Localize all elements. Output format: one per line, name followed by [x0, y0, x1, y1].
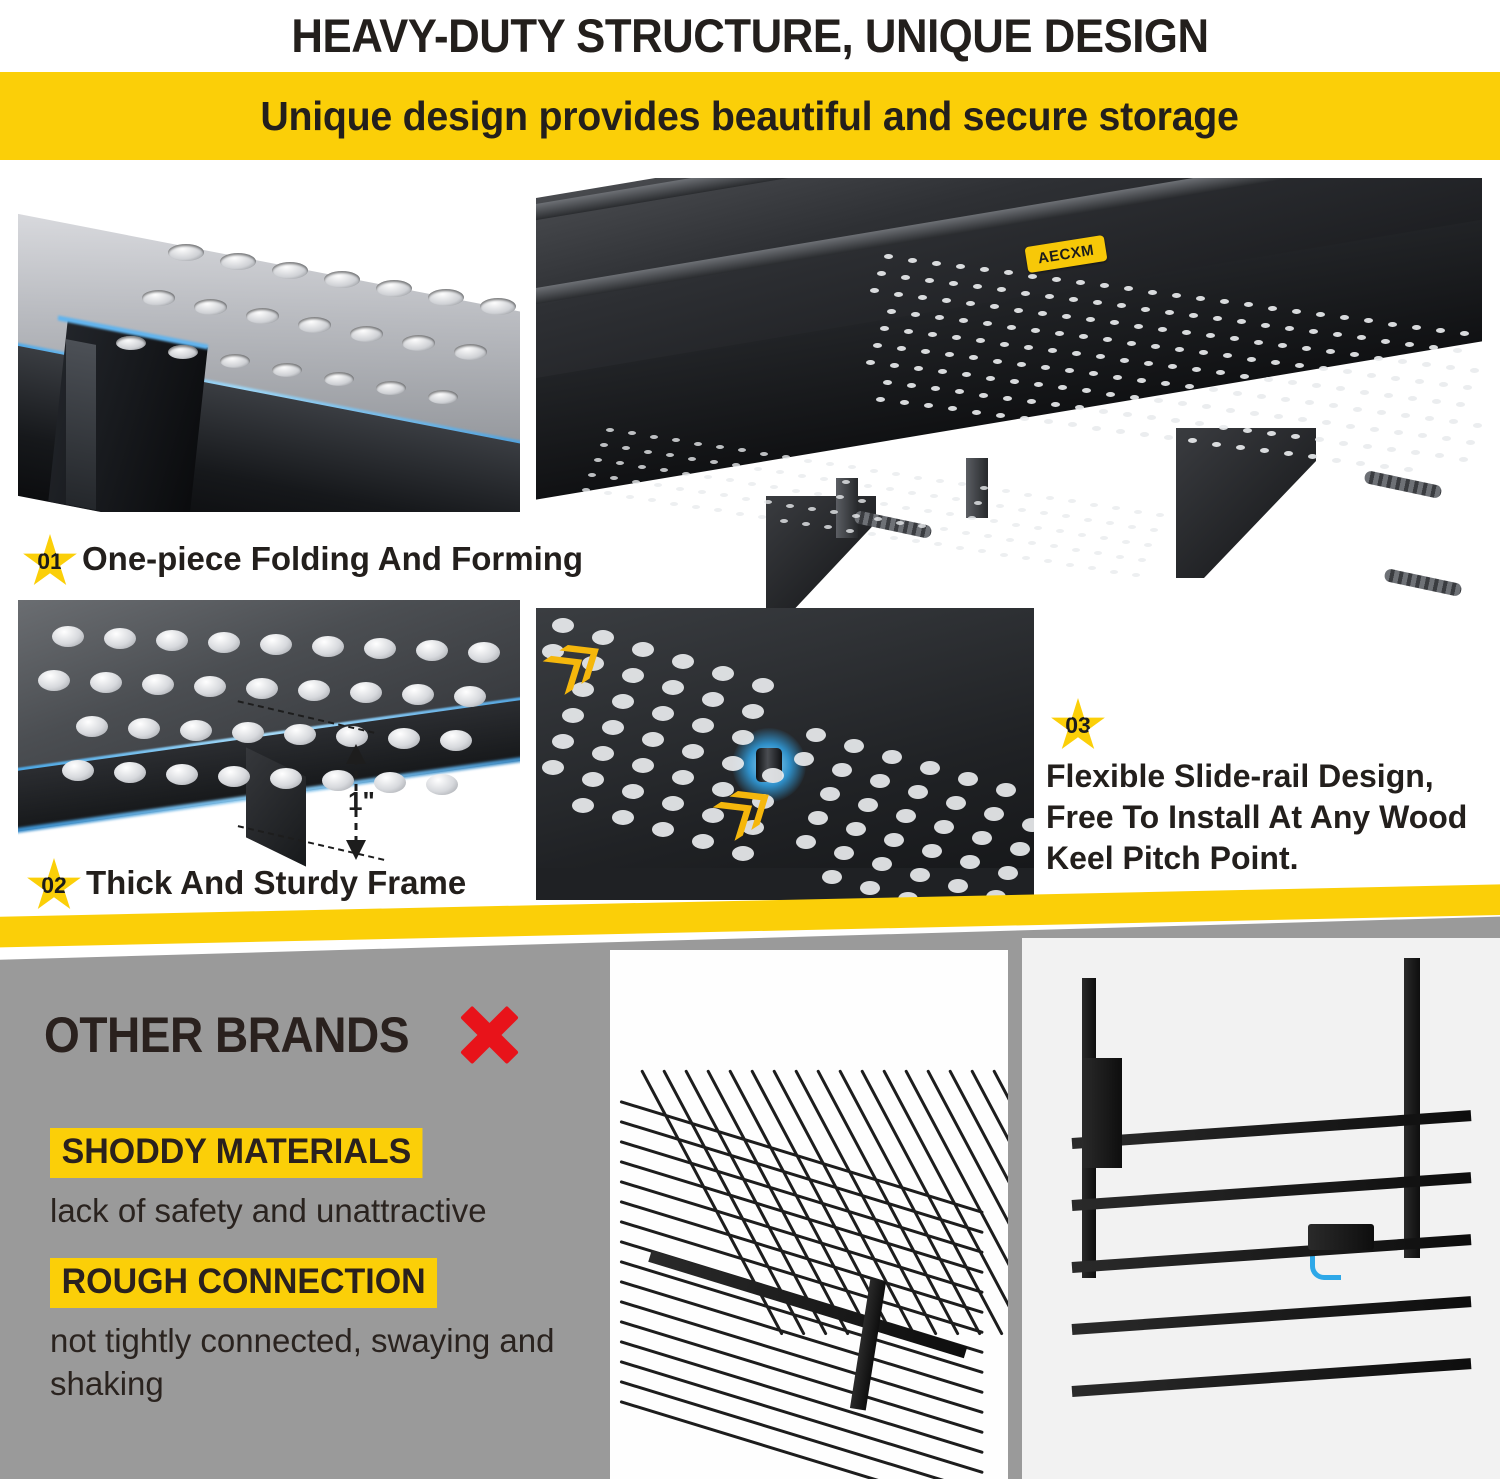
photo-detail	[732, 463, 740, 467]
photo-detail	[704, 475, 712, 479]
photo-detail	[930, 494, 938, 498]
photo-detail	[1092, 426, 1101, 431]
photo-detail	[1322, 420, 1331, 425]
photo-detail	[834, 846, 854, 860]
photo-detail	[1429, 345, 1438, 350]
photo-detail	[1106, 521, 1114, 525]
photo-detail	[1456, 402, 1465, 407]
comparison-heading: OTHER BRANDS	[44, 1004, 521, 1066]
photo-detail	[440, 730, 472, 751]
photo-detail	[692, 834, 714, 849]
photo-detail	[1120, 358, 1129, 363]
photo-detail	[642, 732, 664, 747]
photo-detail	[676, 487, 684, 491]
photo-detail	[324, 271, 360, 288]
photo-detail	[932, 261, 941, 266]
photo-detail	[1127, 341, 1136, 346]
photo-detail	[1076, 280, 1085, 285]
photo-detail	[1100, 536, 1108, 540]
photo-detail	[1156, 513, 1164, 517]
photo-detail	[914, 366, 923, 371]
photo-detail	[1332, 458, 1341, 463]
photo-detail	[1010, 842, 1030, 856]
photo-detail	[776, 470, 784, 474]
photo-detail	[866, 360, 875, 365]
photo-detail	[880, 502, 888, 506]
photo-detail	[901, 275, 910, 280]
photo-detail	[632, 758, 654, 773]
photo-detail	[376, 280, 412, 297]
photo-detail	[960, 855, 980, 869]
photo-detail	[1003, 396, 1012, 401]
photo-detail	[978, 549, 986, 553]
photo-detail	[748, 482, 756, 486]
comparison-tag-2: ROUGH CONNECTION	[50, 1258, 437, 1308]
photo-detail	[1172, 293, 1181, 298]
photo-detail	[922, 844, 942, 858]
photo-detail	[1298, 417, 1307, 422]
photo-detail	[984, 534, 992, 538]
photo-detail	[1257, 394, 1266, 399]
photo-detail	[1050, 544, 1058, 548]
photo-detail	[956, 264, 965, 269]
photo-detail	[388, 728, 420, 749]
photo-detail	[1099, 409, 1108, 414]
photo-detail	[868, 532, 876, 536]
photo-detail	[1339, 441, 1348, 446]
photo-detail	[698, 490, 706, 494]
photo-detail	[298, 680, 330, 701]
photo-detail	[852, 514, 860, 518]
photo-detail	[940, 527, 948, 531]
photo-detail	[592, 746, 614, 761]
photo-detail	[1292, 309, 1301, 314]
photo-detail	[1012, 523, 1020, 527]
photo-thick-frame	[18, 600, 520, 900]
photo-detail	[908, 258, 917, 263]
photo-detail	[850, 1280, 886, 1411]
photo-detail	[1453, 348, 1462, 353]
photo-detail	[1075, 405, 1084, 410]
photo-detail	[1182, 330, 1191, 335]
photo-detail	[1137, 378, 1146, 383]
photo-detail	[1068, 499, 1076, 503]
subtitle-text: Unique design provides beautiful and sec…	[261, 93, 1239, 140]
photo-detail	[480, 298, 516, 315]
photo-detail	[1219, 425, 1228, 430]
photo-detail	[638, 465, 646, 469]
brand-plate-label: AECXM	[1037, 241, 1096, 267]
photo-detail	[1110, 570, 1118, 574]
photo-detail	[652, 706, 674, 721]
photo-detail	[896, 809, 916, 823]
photo-detail	[232, 722, 264, 743]
photo-detail	[918, 295, 927, 300]
photo-detail	[594, 458, 602, 462]
feature-label-01: One-piece Folding And Forming	[82, 540, 583, 578]
comparison-detail-1: lack of safety and unattractive	[50, 1190, 610, 1233]
photo-detail	[1442, 436, 1451, 441]
photo-detail	[758, 515, 766, 519]
photo-detail	[920, 761, 940, 775]
photo-detail	[1175, 347, 1184, 352]
photo-detail	[1268, 306, 1277, 311]
photo-detail	[1247, 357, 1256, 362]
photo-detail	[816, 1069, 959, 1335]
photo-detail	[1408, 396, 1417, 401]
photo-detail	[993, 359, 1002, 364]
photo-detail	[1151, 344, 1160, 349]
photo-detail	[1038, 311, 1047, 316]
photo-detail	[942, 298, 951, 303]
photo-detail	[104, 628, 136, 649]
photo-detail	[1422, 362, 1431, 367]
photo-detail	[1411, 450, 1420, 455]
photo-detail	[742, 704, 764, 719]
photo-detail	[376, 381, 406, 395]
photo-detail	[552, 734, 574, 749]
photo-detail	[1148, 290, 1157, 295]
photo-detail	[312, 636, 344, 657]
photo-detail	[884, 833, 904, 847]
photo-detail	[1130, 395, 1139, 400]
photo-detail	[1123, 412, 1132, 417]
photo-detail	[1387, 447, 1396, 452]
photo-detail	[428, 390, 458, 404]
photo-detail	[1045, 294, 1054, 299]
photo-detail	[1391, 376, 1400, 381]
photo-detail	[350, 326, 383, 342]
photo-detail	[924, 509, 932, 513]
photo-detail	[946, 796, 966, 810]
photo-detail	[826, 462, 834, 466]
photo-detail	[780, 519, 788, 523]
photo-detail	[1028, 274, 1037, 279]
photo-detail	[948, 879, 968, 893]
photo-detail	[128, 718, 160, 739]
photo-detail	[996, 783, 1016, 797]
photo-detail	[220, 354, 250, 368]
red-x-icon	[459, 1004, 521, 1066]
photo-detail	[1233, 391, 1242, 396]
photo-detail	[1319, 366, 1328, 371]
photo-detail	[934, 542, 942, 546]
photo-detail	[1116, 429, 1125, 434]
photo-detail	[1353, 407, 1362, 412]
photo-folded-channel	[18, 192, 520, 512]
photo-detail	[846, 529, 854, 533]
photo-detail	[902, 506, 910, 510]
comparison-detail-2: not tightly connected, swaying and shaki…	[50, 1320, 610, 1406]
photo-detail	[1150, 528, 1158, 532]
photo-detail	[654, 483, 662, 487]
photo-detail	[1022, 556, 1030, 560]
photo-detail	[1226, 408, 1235, 413]
photo-detail	[1024, 345, 1033, 350]
photo-detail	[946, 512, 954, 516]
photo-detail	[1196, 296, 1205, 301]
photo-detail	[1161, 381, 1170, 386]
photo-detail	[872, 857, 892, 871]
photo-detail	[844, 739, 864, 753]
photo-detail	[648, 498, 656, 502]
photo-detail	[925, 278, 934, 283]
photo-detail	[1398, 359, 1407, 364]
photo-detail	[168, 244, 204, 261]
photo-detail	[1138, 558, 1146, 562]
photo-detail	[1264, 377, 1273, 382]
photo-detail	[896, 521, 904, 525]
photo-detail	[1236, 445, 1245, 450]
photo-detail	[180, 720, 212, 741]
photo-detail	[1082, 1058, 1122, 1168]
photo-detail	[1106, 392, 1115, 397]
photo-detail	[754, 467, 762, 471]
photo-detail	[984, 807, 1004, 821]
photo-detail	[402, 335, 435, 351]
photo-detail	[1088, 566, 1096, 570]
photo-detail	[1336, 386, 1345, 391]
photo-detail	[742, 497, 750, 501]
photo-detail	[562, 708, 584, 723]
photo-detail	[858, 499, 866, 503]
photo-detail	[632, 480, 640, 484]
photo-detail	[820, 787, 840, 801]
photo-detail	[1040, 511, 1048, 515]
photo-detail	[914, 476, 922, 480]
photo-detail	[1113, 375, 1122, 380]
photo-detail	[1374, 356, 1383, 361]
photo-detail	[1449, 419, 1458, 424]
photo-detail	[116, 336, 146, 350]
photo-detail	[1168, 364, 1177, 369]
photo-detail	[166, 764, 198, 785]
photo-detail	[908, 491, 916, 495]
photo-detail	[752, 678, 774, 693]
photo-detail	[1002, 489, 1010, 493]
photo-detail	[1202, 404, 1211, 409]
photo-detail	[552, 618, 574, 633]
photo-detail	[1044, 419, 1053, 424]
photo-detail	[822, 870, 842, 884]
photo-detail	[912, 539, 920, 543]
photo-detail	[918, 524, 926, 528]
photo-detail	[652, 822, 674, 837]
photo-detail	[952, 497, 960, 501]
photo-detail	[650, 435, 658, 439]
photo-detail	[990, 519, 998, 523]
photo-detail	[894, 292, 903, 297]
photo-detail	[218, 766, 250, 787]
photo-detail	[1308, 1224, 1374, 1250]
photo-detail	[1432, 399, 1441, 404]
photo-bracket-rack	[1022, 938, 1500, 1479]
photo-detail	[670, 502, 678, 506]
photo-detail	[1405, 342, 1414, 347]
photo-detail	[972, 831, 992, 845]
photo-detail	[1312, 383, 1321, 388]
photo-detail	[732, 730, 754, 745]
photo-detail	[1254, 340, 1263, 345]
dimension-label: 1"	[348, 786, 375, 817]
photo-detail	[52, 626, 84, 647]
photo-detail	[794, 752, 814, 766]
photo-detail	[968, 516, 976, 520]
photo-detail	[1084, 518, 1092, 522]
photo-detail	[672, 770, 694, 785]
photo-detail	[1164, 435, 1173, 440]
photo-detail	[1144, 543, 1152, 547]
photo-detail	[1165, 310, 1174, 315]
photo-detail	[1470, 368, 1479, 373]
photo-detail	[114, 762, 146, 783]
photo-detail	[1346, 424, 1355, 429]
photo-detail	[1309, 329, 1318, 334]
photo-detail	[246, 308, 279, 324]
photo-detail	[1285, 326, 1294, 331]
photo-detail	[454, 686, 486, 707]
photo-detail	[846, 822, 866, 836]
photo-detail	[622, 668, 644, 683]
photo-detail	[1024, 493, 1032, 497]
photo-detail	[1072, 1358, 1472, 1397]
photo-detail	[904, 329, 913, 334]
photo-detail	[1473, 423, 1482, 428]
photo-detail	[612, 810, 634, 825]
photo-detail	[220, 253, 256, 270]
photo-detail	[798, 474, 806, 478]
photo-detail	[416, 640, 448, 661]
photo-detail	[996, 504, 1004, 508]
photo-detail	[1278, 343, 1287, 348]
photo-detail	[1381, 339, 1390, 344]
photo-detail	[1436, 328, 1445, 333]
photo-detail	[272, 363, 302, 377]
photo-detail	[1132, 573, 1140, 577]
comparison-tag-1: SHODDY MATERIALS	[50, 1128, 423, 1178]
photo-detail	[1154, 398, 1163, 403]
photo-detail	[1435, 453, 1444, 458]
photo-detail	[688, 457, 696, 461]
photo-detail	[720, 493, 728, 497]
photo-detail	[820, 477, 828, 481]
photo-detail	[1021, 291, 1030, 296]
photo-detail	[897, 346, 906, 351]
photo-detail	[1302, 346, 1311, 351]
photo-detail	[682, 472, 690, 476]
comparison-title: OTHER BRANDS	[44, 1006, 409, 1064]
photo-detail	[542, 760, 564, 775]
photo-detail	[1056, 529, 1064, 533]
photo-detail	[1078, 533, 1086, 537]
photo-detail	[876, 397, 885, 402]
photo-detail	[1017, 362, 1026, 367]
photo-detail	[582, 488, 590, 492]
photo-detail	[1418, 433, 1427, 438]
photo-detail	[1305, 400, 1314, 405]
photo-detail	[1000, 342, 1009, 347]
photo-detail	[1356, 461, 1365, 466]
photo-detail	[1271, 360, 1280, 365]
photo-detail	[260, 634, 292, 655]
photo-detail	[454, 344, 487, 360]
photo-detail	[1122, 540, 1130, 544]
photo-detail	[1240, 374, 1249, 379]
photo-detail	[428, 289, 464, 306]
photo-detail	[1274, 414, 1283, 419]
photo-detail	[1147, 415, 1156, 420]
photo-detail	[1158, 327, 1167, 332]
photo-detail	[1072, 1296, 1472, 1335]
photo-detail	[1394, 430, 1403, 435]
photo-detail	[582, 772, 604, 787]
feature-label-03: Flexible Slide-rail Design, Free To Inst…	[1046, 756, 1486, 879]
photo-detail	[1144, 361, 1153, 366]
photo-detail	[1459, 457, 1468, 462]
photo-detail	[1329, 403, 1338, 408]
photo-detail	[958, 772, 978, 786]
photo-detail	[882, 750, 902, 764]
photo-detail	[860, 881, 880, 895]
photo-detail	[1062, 314, 1071, 319]
photo-detail	[1028, 541, 1036, 545]
photo-detail	[782, 455, 790, 459]
photo-detail	[1134, 324, 1143, 329]
photo-detail	[1027, 399, 1036, 404]
photo-detail	[1128, 525, 1136, 529]
photo-detail	[644, 450, 652, 454]
photo-detail	[908, 785, 928, 799]
photo-detail	[142, 674, 174, 695]
photo-detail	[1343, 369, 1352, 374]
photo-detail	[1140, 432, 1149, 437]
photo-detail	[808, 811, 828, 825]
photo-detail	[684, 1069, 827, 1335]
photo-detail	[998, 866, 1018, 880]
photo-detail	[38, 670, 70, 691]
photo-detail	[808, 507, 816, 511]
photo-detail	[1010, 379, 1019, 384]
photo-detail	[270, 768, 302, 789]
photo-detail	[194, 299, 227, 315]
photo-detail	[936, 479, 944, 483]
photo-detail	[796, 835, 816, 849]
photo-detail	[870, 774, 890, 788]
photo-detail	[168, 345, 198, 359]
photo-detail	[1062, 514, 1070, 518]
photo-detail	[284, 724, 316, 745]
photo-detail	[1034, 526, 1042, 530]
photo-detail	[350, 682, 382, 703]
photo-detail	[858, 798, 878, 812]
photo-detail	[1446, 365, 1455, 370]
photo-detail	[900, 400, 909, 405]
photo-detail	[892, 472, 900, 476]
photo-detail	[1384, 393, 1393, 398]
photo-detail	[1267, 431, 1276, 436]
photo-detail	[662, 680, 684, 695]
photo-detail	[1189, 313, 1198, 318]
photo-detail	[1041, 365, 1050, 370]
photo-detail	[1261, 323, 1270, 328]
photo-detail	[1370, 427, 1379, 432]
photo-detail	[934, 820, 954, 834]
photo-detail	[1034, 382, 1043, 387]
photo-detail	[911, 312, 920, 317]
photo-detail	[736, 512, 744, 516]
photo-detail	[786, 504, 794, 508]
photo-detail	[928, 332, 937, 337]
